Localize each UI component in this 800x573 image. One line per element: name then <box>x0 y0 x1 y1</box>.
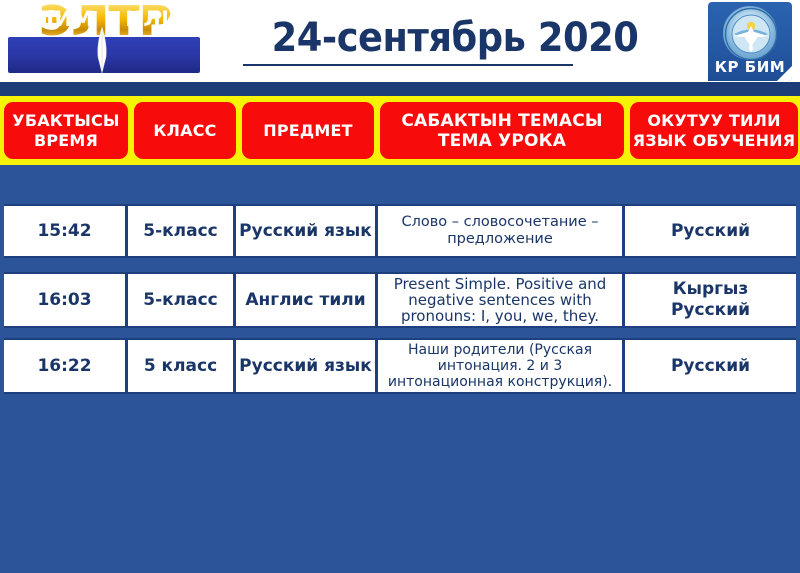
column-header-theme: САБАКТЫН ТЕМАСЫ ТЕМА УРОКА <box>380 102 624 159</box>
eltr-logo: ЭЛТР БИЛИМ ИЛИМ <box>2 1 207 81</box>
cell-language-text: Русский <box>625 356 796 377</box>
cell-class: 5-класс <box>128 206 236 256</box>
cell-language: Русский <box>625 340 796 392</box>
cell-subject: Русский язык <box>236 340 378 392</box>
page-title: 24-сентябрь 2020 <box>234 14 676 62</box>
table-row: 16:22 5 класс Русский язык Наши родители… <box>4 338 796 394</box>
cell-theme: Слово – словосочетание – предложение <box>378 206 625 256</box>
cell-time: 15:42 <box>4 206 128 256</box>
column-header-time: УБАКТЫСЫ ВРЕМЯ <box>4 102 128 159</box>
cell-class: 5-класс <box>128 274 236 326</box>
table-row: 15:42 5-класс Русский язык Слово – слово… <box>4 204 796 258</box>
kyrgyz-republic-emblem-icon <box>723 6 777 60</box>
column-header-language-line1: ОКУТУУ ТИЛИ <box>647 111 780 131</box>
column-header-time-line1: УБАКТЫСЫ <box>12 111 119 131</box>
cell-language: Русский <box>625 206 796 256</box>
kr-bim-logo: КР БИМ <box>708 2 792 81</box>
navy-divider-band <box>0 82 800 96</box>
cell-theme: Present Simple. Positive and negative se… <box>378 274 625 326</box>
cell-subject: Русский язык <box>236 206 378 256</box>
cell-theme-text: Present Simple. Positive and negative se… <box>378 276 622 324</box>
column-header-theme-line2: ТЕМА УРОКА <box>438 131 566 151</box>
cell-subject: Англис тили <box>236 274 378 326</box>
cell-time: 16:22 <box>4 340 128 392</box>
cell-theme-text: Слово – словосочетание – предложение <box>378 214 622 248</box>
cell-language-text: Русский <box>625 221 796 242</box>
column-header-language-line2: ЯЗЫК ОБУЧЕНИЯ <box>633 131 796 151</box>
cell-theme-text: Наши родители (Русская интонация. 2 и 3 … <box>378 342 622 390</box>
column-header-class-line1: КЛАСС <box>153 121 216 141</box>
column-header-language: ОКУТУУ ТИЛИ ЯЗЫК ОБУЧЕНИЯ <box>630 102 798 159</box>
cell-theme: Наши родители (Русская интонация. 2 и 3 … <box>378 340 625 392</box>
page-header: ЭЛТР БИЛИМ ИЛИМ 24-сентябрь 2020 КР БИМ <box>0 0 800 82</box>
table-row: 16:03 5-класс Англис тили Present Simple… <box>4 272 796 328</box>
column-header-subject-line1: ПРЕДМЕТ <box>263 121 352 141</box>
cell-class: 5 класс <box>128 340 236 392</box>
column-header-subject: ПРЕДМЕТ <box>242 102 374 159</box>
feather-pen-icon <box>94 27 110 73</box>
cell-language: Кыргыз Русский <box>625 274 796 326</box>
title-underline <box>243 64 573 66</box>
table-header-row: УБАКТЫСЫ ВРЕМЯ КЛАСС ПРЕДМЕТ САБАКТЫН ТЕ… <box>0 102 800 159</box>
cell-time: 16:03 <box>4 274 128 326</box>
page-fold-corner <box>777 66 792 81</box>
column-header-class: КЛАСС <box>134 102 236 159</box>
column-header-theme-line1: САБАКТЫН ТЕМАСЫ <box>401 111 602 131</box>
column-header-time-line2: ВРЕМЯ <box>34 131 98 151</box>
cell-language-text: Кыргыз Русский <box>625 279 796 321</box>
